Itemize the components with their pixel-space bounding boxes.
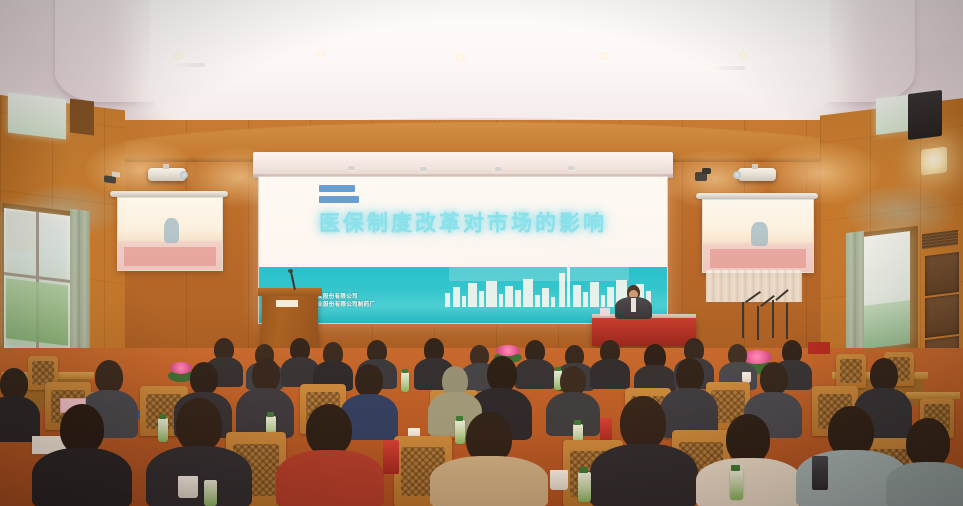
water-bottle xyxy=(158,418,168,442)
bottle-cap xyxy=(579,467,588,473)
bottle-cap xyxy=(159,414,166,419)
projector-right xyxy=(738,168,776,181)
water-bottle xyxy=(578,472,591,502)
speaker-shirt xyxy=(631,298,636,312)
conference-hall-photo: 医保制度改革对市场的影响 xyxy=(0,0,963,506)
paper-cup xyxy=(178,476,198,498)
downlight-icon xyxy=(598,52,609,60)
stage-soffit xyxy=(253,152,673,176)
flower-arrangement xyxy=(170,362,192,374)
microphone-stand xyxy=(772,300,774,338)
left-projection-screen[interactable] xyxy=(117,197,223,271)
strip-light xyxy=(165,63,205,67)
slide-title: 医保制度改革对市场的影响 xyxy=(259,207,667,237)
thermos-flask xyxy=(383,440,399,474)
curtain-left xyxy=(70,209,90,361)
stage-spotlight xyxy=(495,167,502,171)
stage-spotlight xyxy=(568,166,575,170)
paper-cup xyxy=(550,470,568,490)
microphone-stand xyxy=(786,303,788,339)
projector-mount-left xyxy=(163,164,169,169)
ceiling-speaker-right xyxy=(908,90,942,140)
lectern-microphone-head xyxy=(288,269,293,273)
water-bottle xyxy=(730,470,743,500)
microphone-stand xyxy=(757,306,759,340)
bottle-cap xyxy=(574,420,581,425)
projector-lens-right xyxy=(733,171,741,179)
downlight-icon xyxy=(315,50,326,58)
stage-spotlight xyxy=(420,167,427,171)
bottle-cap xyxy=(731,465,740,471)
ceiling-light-panel xyxy=(150,0,830,118)
downlight-icon xyxy=(455,54,466,62)
wall-sconce-light xyxy=(921,146,947,175)
lectern-top xyxy=(258,288,322,296)
camera-icon-left xyxy=(112,172,120,178)
empty-chair[interactable] xyxy=(836,354,866,388)
stage-spotlight xyxy=(348,166,355,170)
thermos-flask xyxy=(812,456,828,490)
red-box xyxy=(808,342,830,354)
microphone-stand xyxy=(742,302,744,338)
camera-lens-right xyxy=(702,168,711,174)
bottle-cap xyxy=(267,412,274,417)
water-bottle xyxy=(401,372,409,392)
curtain-right xyxy=(846,231,864,357)
water-bottle xyxy=(204,480,217,506)
window-right xyxy=(864,231,910,349)
laptop-icon xyxy=(600,308,610,316)
right-projection-screen[interactable] xyxy=(702,199,814,273)
flower-arrangement xyxy=(496,345,520,356)
strip-light xyxy=(705,66,745,70)
downlight-icon xyxy=(738,52,749,60)
slide-logo-bar-2 xyxy=(319,196,359,203)
main-projection-screen[interactable]: 医保制度改革对市场的影响 xyxy=(258,176,668,324)
acoustic-panel xyxy=(925,294,959,338)
water-bottle xyxy=(455,420,465,444)
clerestory-window-left xyxy=(8,92,66,139)
projector-mount-right xyxy=(752,164,758,169)
projector-lens-left xyxy=(180,171,188,179)
wall-recess-left xyxy=(70,99,94,136)
bottle-cap xyxy=(402,369,408,373)
downlight-icon xyxy=(172,52,183,60)
bottle-cap xyxy=(555,367,561,371)
lectern-plate xyxy=(276,300,298,307)
bottle-cap xyxy=(456,416,463,421)
window-left xyxy=(4,208,70,356)
acoustic-panel xyxy=(925,252,959,296)
slide-logo-bar-1 xyxy=(319,185,355,192)
